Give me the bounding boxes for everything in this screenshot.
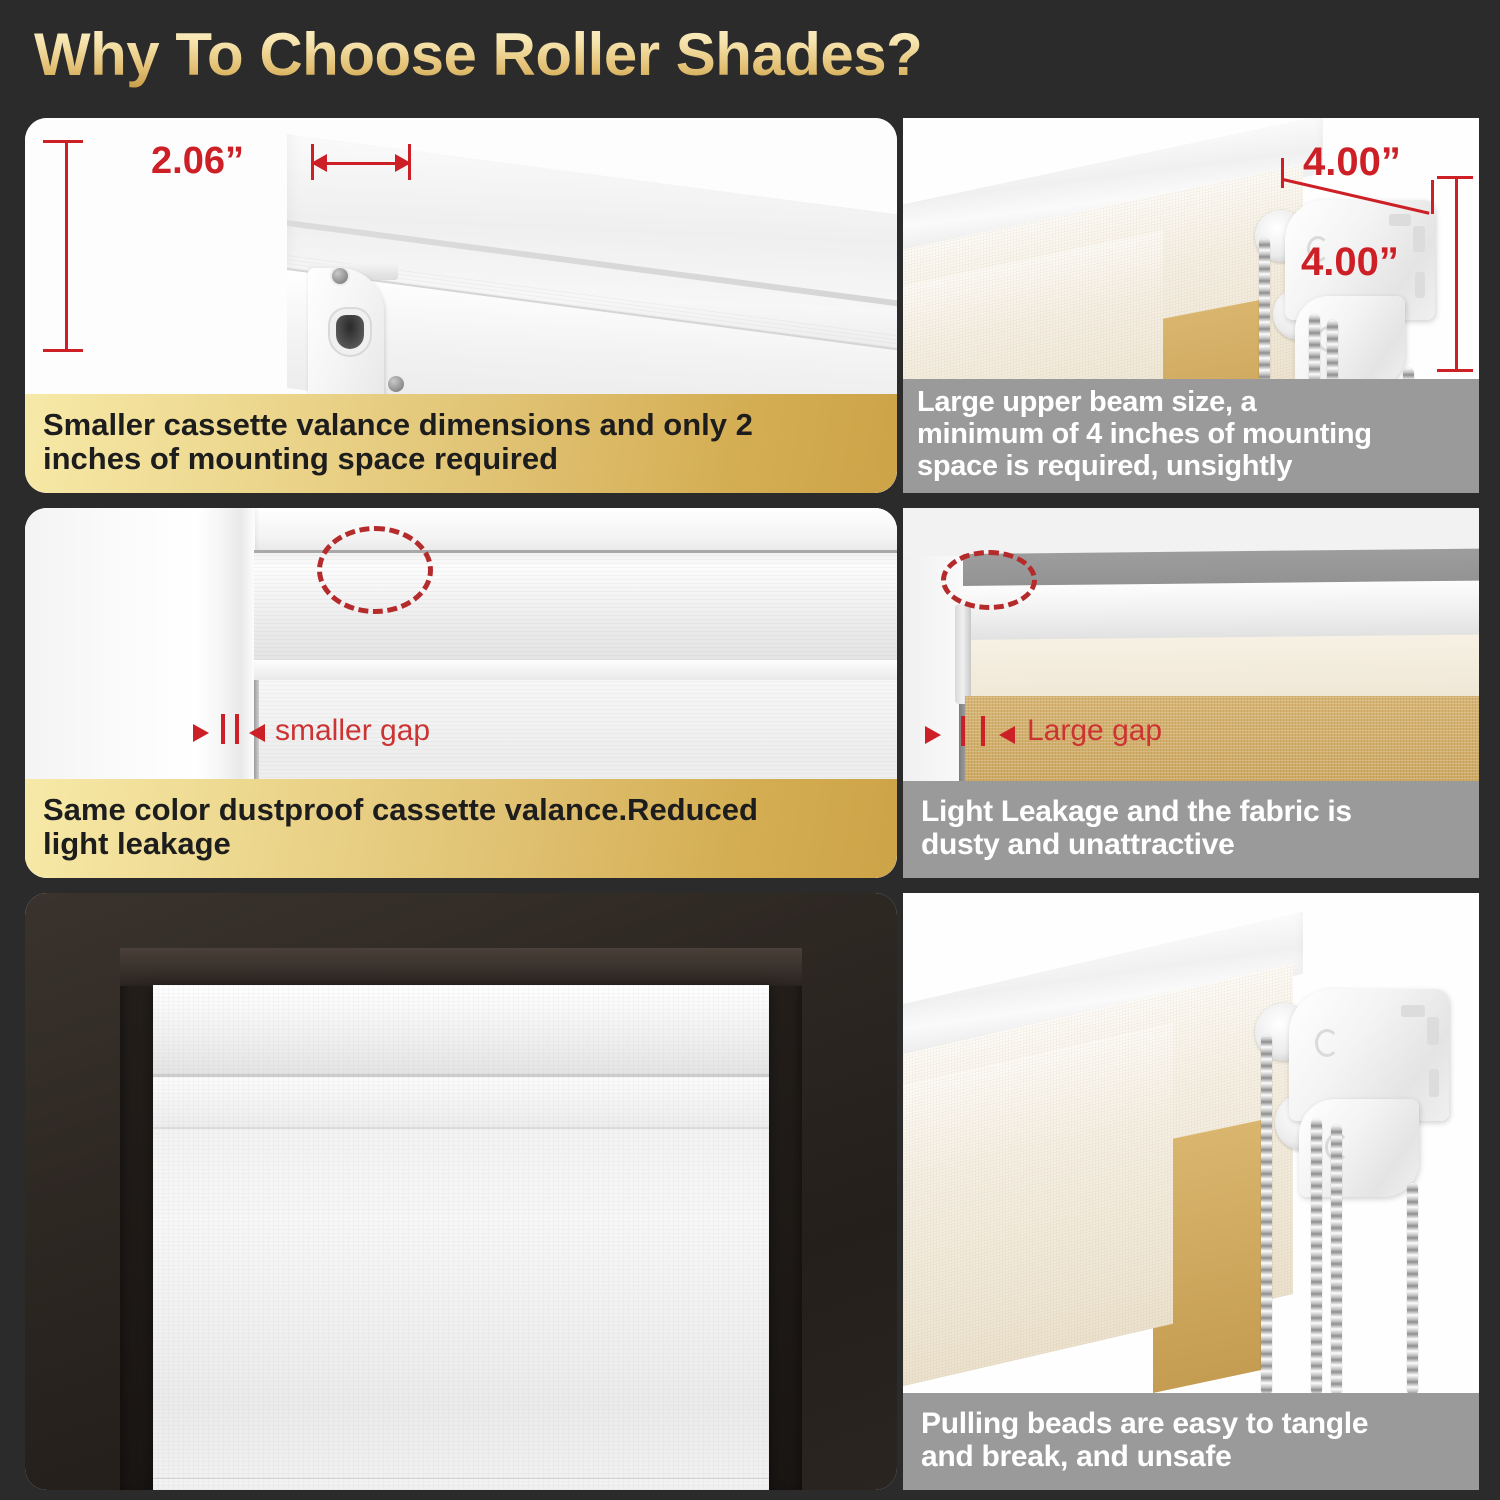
gap-arrow-right	[925, 726, 941, 744]
large-gap-label: Large gap	[1027, 714, 1162, 748]
comparison-grid: 2.06” 5.49” Smaller cassette valance dim…	[0, 108, 1500, 1500]
caption-line-1: Pulling beads are easy to tangle	[921, 1407, 1461, 1441]
bead-chain	[1261, 1035, 1272, 1395]
beam-height-tick-bottom	[1437, 369, 1473, 372]
beam-width-label: 4.00”	[1303, 140, 1401, 185]
panel-4-caption: Light Leakage and the fabric is dusty an…	[903, 781, 1479, 878]
caption-line-3: space is required, unsightly	[917, 451, 1465, 483]
cordless-window-photo	[25, 893, 897, 1490]
panel-cordless-design[interactable]: Free-stop cordless design is safer and m…	[25, 893, 897, 1490]
gap-bar-right	[235, 714, 239, 744]
caption-line-1: Light Leakage and the fabric is	[921, 795, 1461, 829]
height-dim-tick-top	[43, 140, 83, 143]
page-header: Why To Choose Roller Shades?	[0, 0, 1500, 108]
bead-chain	[1311, 1119, 1322, 1395]
caption-line-1: Smaller cassette valance dimensions and …	[43, 408, 879, 443]
beam-width-tick-left	[1281, 158, 1284, 188]
beam-height-tick-top	[1437, 176, 1473, 179]
bead-chain	[1331, 1125, 1342, 1395]
panel-2-caption: Large upper beam size, a minimum of 4 in…	[903, 379, 1479, 493]
gap-bar-left	[221, 714, 225, 744]
caption-line-2: light leakage	[43, 827, 879, 862]
gap-bar-right	[981, 716, 985, 746]
panel-light-leakage[interactable]: Large gap Light Leakage and the fabric i…	[903, 508, 1479, 878]
gap-arrow-left	[249, 724, 265, 742]
beam-height-label: 4.00”	[1301, 240, 1399, 285]
caption-line-1: Same color dustproof cassette valance.Re…	[43, 793, 879, 828]
panel-pulling-beads[interactable]: Pulling beads are easy to tangle and bre…	[903, 893, 1479, 1490]
height-dim-line	[65, 140, 68, 352]
highlight-ellipse-icon	[317, 526, 433, 614]
caption-line-2: and break, and unsafe	[921, 1440, 1461, 1474]
gap-arrow-right	[193, 724, 209, 742]
caption-line-2: minimum of 4 inches of mounting	[917, 419, 1465, 451]
gap-arrow-left	[999, 726, 1015, 744]
panel-3-caption: Same color dustproof cassette valance.Re…	[25, 779, 897, 878]
height-dim-tick-bottom	[43, 349, 83, 352]
bracket-ring-icon	[1315, 1029, 1339, 1057]
bead-chain	[1407, 1183, 1418, 1395]
panel-large-upper-beam[interactable]: 4.00” 4.00” Large upper beam size, a min…	[903, 118, 1479, 493]
panel-1-caption: Smaller cassette valance dimensions and …	[25, 394, 897, 493]
panel-smaller-cassette[interactable]: 2.06” 5.49” Smaller cassette valance dim…	[25, 118, 897, 493]
roller-shade	[153, 985, 769, 1490]
width-arrow-left	[311, 154, 327, 172]
width-arrow-right	[395, 154, 411, 172]
page-title: Why To Choose Roller Shades?	[34, 20, 922, 89]
panel-dustproof-valance[interactable]: smaller gap Same color dustproof cassett…	[25, 508, 897, 878]
panel-6-caption: Pulling beads are easy to tangle and bre…	[903, 1393, 1479, 1490]
beam-width-tick-right	[1431, 180, 1434, 214]
beam-height-dim-line	[1455, 176, 1458, 372]
gap-bar-left	[961, 716, 965, 746]
caption-line-2: dusty and unattractive	[921, 828, 1461, 862]
caption-line-1: Large upper beam size, a	[917, 387, 1465, 419]
smaller-gap-label: smaller gap	[275, 714, 430, 748]
caption-line-2: inches of mounting space required	[43, 442, 879, 477]
width-dimension-label: 2.06”	[151, 140, 244, 183]
highlight-ellipse-icon	[941, 550, 1037, 610]
